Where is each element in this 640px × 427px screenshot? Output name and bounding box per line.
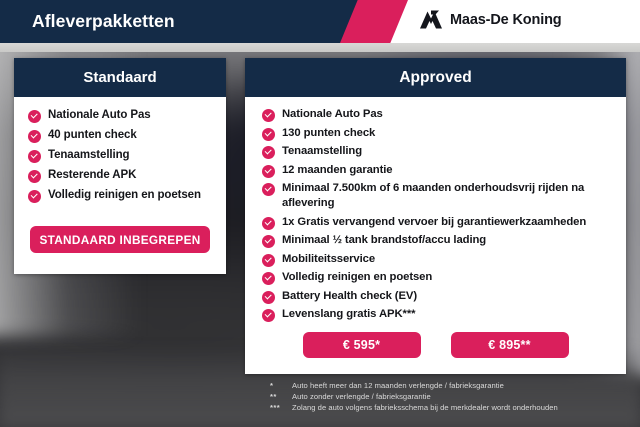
feature-list-approved: Nationale Auto Pas 130 punten check Tena… (245, 97, 626, 322)
check-circle-icon (28, 130, 41, 143)
feature-label: 40 punten check (48, 128, 137, 143)
check-circle-icon (262, 235, 275, 248)
list-item: Minimaal ½ tank brandstof/accu lading (262, 233, 626, 248)
footnote-row: * Auto heeft meer dan 12 maanden verleng… (270, 381, 630, 391)
check-circle-icon (28, 150, 41, 163)
footnote-text: Zolang de auto volgens fabrieksschema bi… (292, 403, 630, 413)
check-circle-icon (28, 170, 41, 183)
list-item: 130 punten check (262, 126, 626, 141)
feature-label: Volledig reinigen en poetsen (48, 188, 201, 203)
feature-label: Minimaal 7.500km of 6 maanden onderhouds… (282, 181, 626, 211)
price-button-595[interactable]: € 595* (303, 332, 421, 358)
list-item: Volledig reinigen en poetsen (262, 270, 626, 285)
check-circle-icon (262, 183, 275, 196)
check-circle-icon (28, 190, 41, 203)
feature-label: Mobiliteitsservice (282, 252, 375, 267)
feature-label: Minimaal ½ tank brandstof/accu lading (282, 233, 486, 248)
check-circle-icon (262, 217, 275, 230)
standaard-inbegrepen-button[interactable]: STANDAARD INBEGREPEN (30, 226, 210, 253)
list-item: Battery Health check (EV) (262, 289, 626, 304)
list-item: Volledig reinigen en poetsen (28, 188, 226, 203)
list-item: 12 maanden garantie (262, 163, 626, 178)
check-circle-icon (262, 272, 275, 285)
check-circle-icon (262, 146, 275, 159)
footnote-marker: * (270, 381, 292, 391)
list-item: Tenaamstelling (262, 144, 626, 159)
check-circle-icon (262, 254, 275, 267)
card-title-standaard: Standaard (14, 58, 226, 97)
check-circle-icon (262, 109, 275, 122)
feature-label: 1x Gratis vervangend vervoer bij garanti… (282, 215, 586, 230)
feature-list-standaard: Nationale Auto Pas 40 punten check Tenaa… (14, 97, 226, 203)
list-item: Levenslang gratis APK*** (262, 307, 626, 322)
card-title-approved: Approved (245, 58, 626, 97)
footnote-marker: *** (270, 403, 292, 413)
list-item: 1x Gratis vervangend vervoer bij garanti… (262, 215, 626, 230)
page-header: Afleverpakketten Maas-De Koning (0, 0, 640, 43)
list-item: Nationale Auto Pas (262, 107, 626, 122)
feature-label: Levenslang gratis APK*** (282, 307, 415, 322)
footnote-row: *** Zolang de auto volgens fabrieksschem… (270, 403, 630, 413)
header-under-band (0, 43, 640, 52)
feature-label: Battery Health check (EV) (282, 289, 417, 304)
list-item: 40 punten check (28, 128, 226, 143)
maas-de-koning-m-logo-icon (419, 9, 443, 31)
brand-lockup: Maas-De Koning (419, 9, 562, 31)
feature-label: Tenaamstelling (282, 144, 362, 159)
footnote-block: * Auto heeft meer dan 12 maanden verleng… (270, 381, 630, 414)
list-item: Nationale Auto Pas (28, 108, 226, 123)
list-item: Mobiliteitsservice (262, 252, 626, 267)
footnote-marker: ** (270, 392, 292, 402)
feature-label: Volledig reinigen en poetsen (282, 270, 432, 285)
check-circle-icon (262, 165, 275, 178)
footnote-text: Auto zonder verlengde / fabrieksgarantie (292, 392, 630, 402)
price-button-row: € 595* € 895** (245, 332, 626, 358)
feature-label: Nationale Auto Pas (282, 107, 383, 122)
price-button-895[interactable]: € 895** (451, 332, 569, 358)
list-item: Resterende APK (28, 168, 226, 183)
check-circle-icon (262, 291, 275, 304)
footnote-text: Auto heeft meer dan 12 maanden verlengde… (292, 381, 630, 391)
package-card-standaard: Standaard Nationale Auto Pas 40 punten c… (14, 58, 226, 274)
feature-label: Nationale Auto Pas (48, 108, 151, 123)
brand-name: Maas-De Koning (450, 12, 562, 28)
list-item: Minimaal 7.500km of 6 maanden onderhouds… (262, 181, 626, 211)
feature-label: Resterende APK (48, 168, 136, 183)
check-circle-icon (28, 110, 41, 123)
feature-label: 12 maanden garantie (282, 163, 392, 178)
footnote-row: ** Auto zonder verlengde / fabrieksgaran… (270, 392, 630, 402)
feature-label: Tenaamstelling (48, 148, 129, 163)
package-card-approved: Approved Nationale Auto Pas 130 punten c… (245, 58, 626, 374)
page-title: Afleverpakketten (32, 11, 175, 32)
check-circle-icon (262, 309, 275, 322)
check-circle-icon (262, 128, 275, 141)
slide-canvas: Afleverpakketten Maas-De Koning Standaar… (0, 0, 640, 427)
list-item: Tenaamstelling (28, 148, 226, 163)
feature-label: 130 punten check (282, 126, 375, 141)
